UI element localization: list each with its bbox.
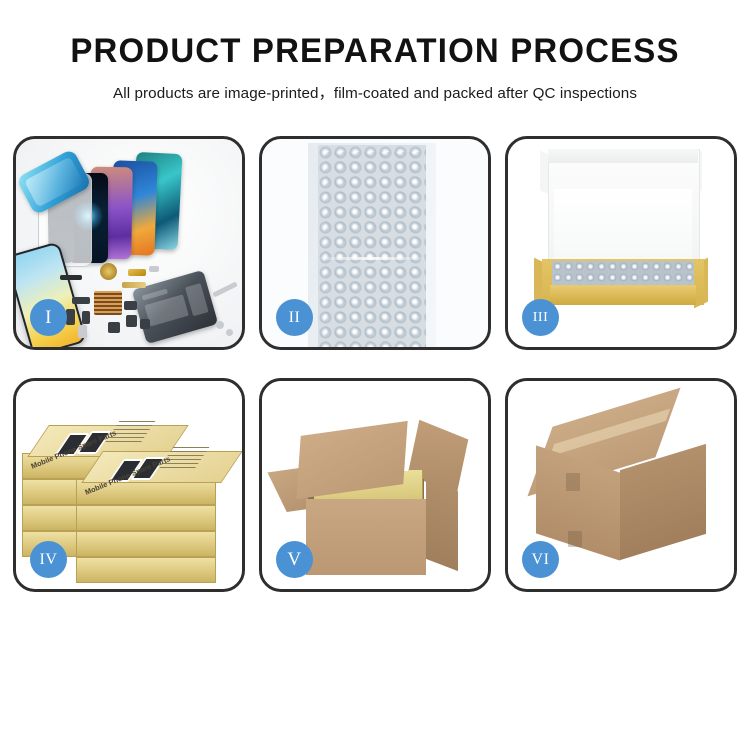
page-subtitle: All products are image-printed，film-coat… (0, 81, 750, 103)
page-title: PRODUCT PREPARATION PROCESS (11, 34, 739, 68)
process-step-grid: I II III (0, 136, 750, 592)
process-step-panel-4: Mobile Phone Spare Parts Mobile Phone Sp… (13, 378, 245, 592)
step-badge-6: VI (522, 541, 559, 578)
page-header: PRODUCT PREPARATION PROCESS All products… (0, 0, 750, 103)
step-badge-4: IV (30, 541, 67, 578)
process-step-panel-1: I (13, 136, 245, 350)
process-step-panel-3: III (505, 136, 737, 350)
step-badge-3: III (522, 299, 559, 336)
process-step-panel-2: II (259, 136, 491, 350)
process-step-panel-6: VI (505, 378, 737, 592)
step-badge-5: V (276, 541, 313, 578)
process-step-panel-5: V (259, 378, 491, 592)
step-badge-2: II (276, 299, 313, 336)
step-badge-1: I (30, 299, 67, 336)
